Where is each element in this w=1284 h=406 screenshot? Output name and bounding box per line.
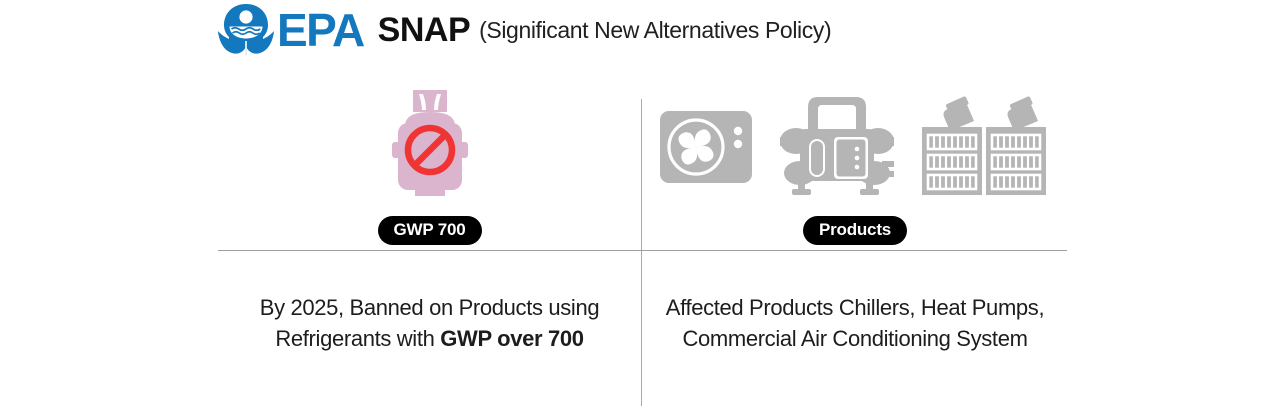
epa-seal-icon (216, 3, 276, 57)
left-caption-emphasis: GWP over 700 (440, 326, 583, 351)
products-badge: Products (803, 216, 907, 245)
epa-logo: EPA (216, 3, 364, 57)
left-panel: GWP 700 (218, 90, 641, 245)
page-subtitle: (Significant New Alternatives Policy) (479, 19, 831, 42)
gwp-badge: GWP 700 (378, 216, 482, 245)
right-caption-line1: Affected Products Chillers, Heat Pumps, (666, 295, 1044, 320)
right-caption: Affected Products Chillers, Heat Pumps, … (642, 292, 1068, 354)
left-caption: By 2025, Banned on Products using Refrig… (218, 292, 641, 354)
industrial-chiller-icon (778, 95, 896, 204)
factory-plants-icon (922, 95, 1050, 204)
right-caption-line2: Commercial Air Conditioning System (682, 326, 1027, 351)
left-icon-row (218, 90, 641, 208)
epa-logo-text: EPA (277, 7, 364, 53)
right-badge-row: Products (642, 216, 1068, 245)
page-header: EPA SNAP (Significant New Alternatives P… (216, 2, 831, 58)
gas-cylinder-banned-icon (375, 90, 485, 208)
air-conditioner-icon (660, 107, 752, 192)
page-title: SNAP (378, 13, 470, 47)
left-badge-row: GWP 700 (218, 216, 641, 245)
right-panel: Products (642, 90, 1068, 245)
right-icon-row (642, 90, 1068, 208)
horizontal-divider (218, 250, 1067, 251)
